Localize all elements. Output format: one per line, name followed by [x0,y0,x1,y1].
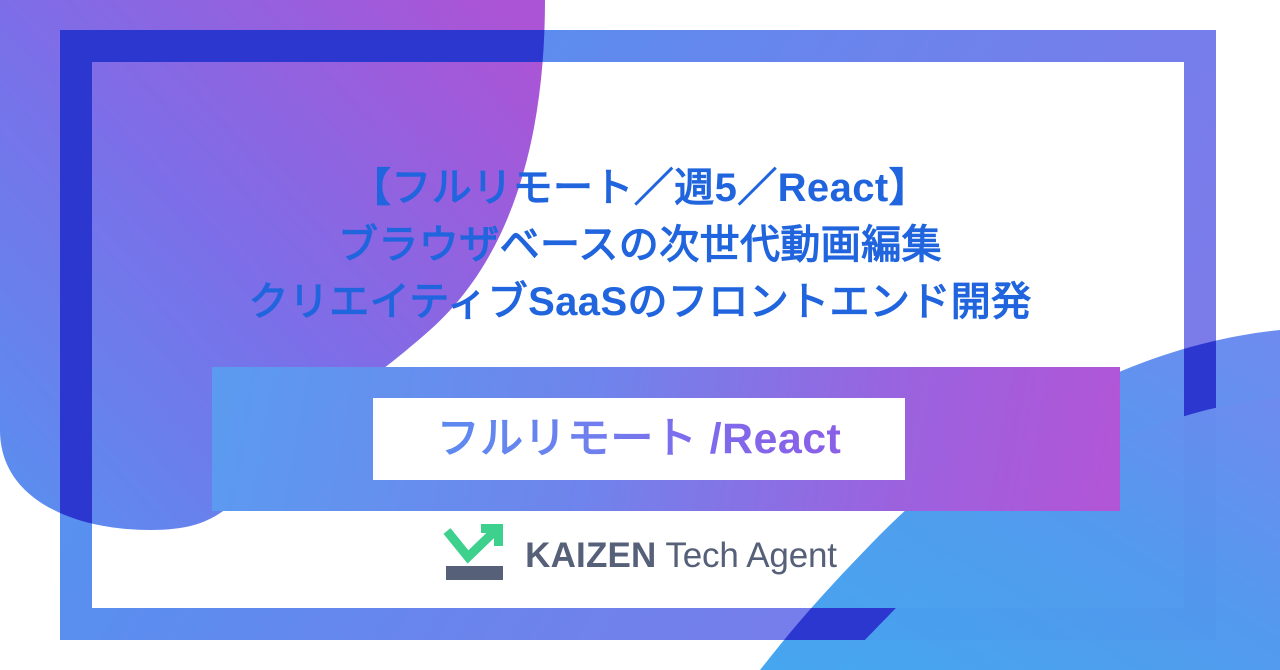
badge-bar: フルリモート /React [212,367,1120,511]
job-banner: 【フルリモート／週5／React】 ブラウザベースの次世代動画編集 クリエイティ… [0,0,1280,670]
headline: 【フルリモート／週5／React】 ブラウザベースの次世代動画編集 クリエイティ… [0,160,1280,331]
growth-arrow-icon [443,521,511,585]
brand-logo: KAIZEN Tech Agent [0,521,1280,585]
badge-inner-box: フルリモート /React [373,398,905,480]
brand-name-bold: KAIZEN [525,536,656,575]
headline-line-1: 【フルリモート／週5／React】 [0,160,1280,217]
brand-name-regular: Tech Agent [656,536,836,575]
brand-wordmark: KAIZEN Tech Agent [525,538,837,573]
headline-line-3: クリエイティブSaaSのフロントエンド開発 [0,274,1280,331]
headline-line-2: ブラウザベースの次世代動画編集 [0,217,1280,274]
badge-label: フルリモート /React [437,418,842,461]
